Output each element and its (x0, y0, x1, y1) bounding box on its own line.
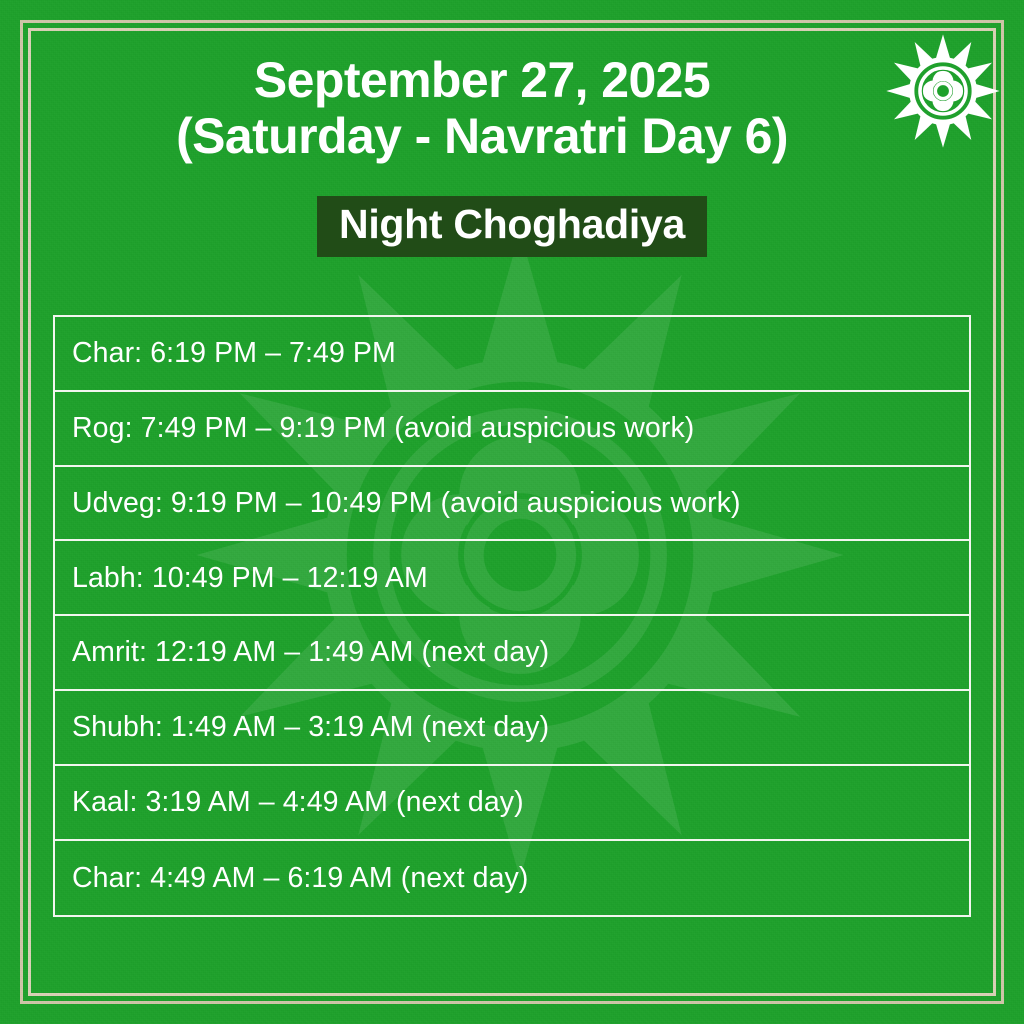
section-banner: Night Choghadiya (317, 196, 707, 257)
table-row-text: Char: 6:19 PM – 7:49 PM (72, 336, 396, 370)
table-row: Kaal: 3:19 AM – 4:49 AM (next day) (55, 766, 969, 841)
table-row-text: Amrit: 12:19 AM – 1:49 AM (next day) (72, 635, 549, 669)
title-line-1: September 27, 2025 (60, 52, 904, 108)
table-row-text: Udveg: 9:19 PM – 10:49 PM (avoid auspici… (72, 486, 741, 520)
table-row: Udveg: 9:19 PM – 10:49 PM (avoid auspici… (55, 467, 969, 542)
table-row: Amrit: 12:19 AM – 1:49 AM (next day) (55, 616, 969, 691)
table-row-text: Shubh: 1:49 AM – 3:19 AM (next day) (72, 710, 549, 744)
table-row-text: Kaal: 3:19 AM – 4:49 AM (next day) (72, 785, 524, 819)
table-row: Labh: 10:49 PM – 12:19 AM (55, 541, 969, 616)
title-line-2: (Saturday - Navratri Day 6) (60, 108, 904, 164)
table-row: Char: 6:19 PM – 7:49 PM (55, 317, 969, 392)
table-row: Char: 4:49 AM – 6:19 AM (next day) (55, 841, 969, 916)
table-row-text: Char: 4:49 AM – 6:19 AM (next day) (72, 861, 528, 895)
section-banner-wrap: Night Choghadiya (0, 196, 1024, 257)
table-row-text: Labh: 10:49 PM – 12:19 AM (72, 561, 428, 595)
choghadiya-table: Char: 6:19 PM – 7:49 PM Rog: 7:49 PM – 9… (53, 315, 971, 917)
table-row: Rog: 7:49 PM – 9:19 PM (avoid auspicious… (55, 392, 969, 467)
table-row-text: Rog: 7:49 PM – 9:19 PM (avoid auspicious… (72, 411, 694, 445)
poster-content: September 27, 2025 (Saturday - Navratri … (0, 0, 1024, 1024)
table-row: Shubh: 1:49 AM – 3:19 AM (next day) (55, 691, 969, 766)
page-title: September 27, 2025 (Saturday - Navratri … (0, 52, 1024, 164)
choghadiya-poster: September 27, 2025 (Saturday - Navratri … (0, 0, 1024, 1024)
